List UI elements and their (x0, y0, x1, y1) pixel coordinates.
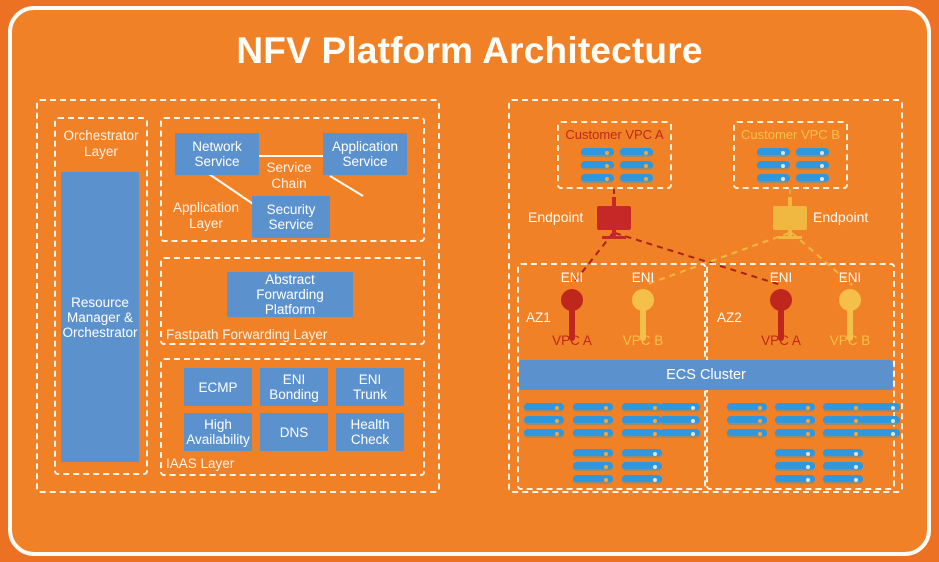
server-icon (622, 449, 662, 458)
endpoint-a[interactable] (597, 206, 631, 230)
server-icon (727, 416, 767, 425)
server-icon (775, 403, 815, 412)
server-icon (823, 475, 863, 484)
az2-server-stack (775, 403, 815, 438)
az2-server-stack (727, 403, 767, 438)
server-icon (573, 462, 613, 471)
server-icon (775, 429, 815, 438)
az1-server-stack (573, 449, 613, 484)
az1-eni-a-vpc-label: VPC A (537, 333, 607, 348)
server-icon (823, 449, 863, 458)
az2-server-stack (775, 449, 815, 484)
az2-server-stack (823, 449, 863, 484)
server-icon (622, 475, 662, 484)
endpoint-stem-up (612, 197, 616, 206)
endpoint-stem-up (788, 197, 792, 206)
endpoint-b[interactable] (773, 206, 807, 230)
server-icon (860, 416, 900, 425)
az1-server-stack (622, 403, 662, 438)
server-icon (860, 403, 900, 412)
server-icon (775, 462, 815, 471)
server-icon (622, 429, 662, 438)
az2-eni-a-label: ENI (746, 270, 816, 285)
az2-eni-b-label: ENI (815, 270, 885, 285)
server-icon (727, 429, 767, 438)
diagram-canvas: NFV Platform Architecture Orchestrator L… (0, 0, 939, 562)
server-icon (573, 416, 613, 425)
server-icon (573, 429, 613, 438)
server-icon (660, 416, 700, 425)
server-icon (622, 462, 662, 471)
server-icon (524, 403, 564, 412)
server-icon (775, 475, 815, 484)
server-icon (727, 403, 767, 412)
server-icon (860, 429, 900, 438)
endpoint-a-label: Endpoint (528, 209, 583, 225)
az2-label: AZ2 (717, 310, 742, 325)
az1-eni-b-vpc-label: VPC B (608, 333, 678, 348)
az1-server-stack (524, 403, 564, 438)
az2-eni-a-vpc-label: VPC A (746, 333, 816, 348)
server-icon (573, 449, 613, 458)
az2-server-stack (823, 403, 863, 438)
az1-server-stack (622, 449, 662, 484)
server-icon (823, 429, 863, 438)
server-icon (573, 475, 613, 484)
server-icon (524, 429, 564, 438)
az2-eni-b-vpc-label: VPC B (815, 333, 885, 348)
endpoint-foot (602, 236, 626, 239)
server-icon (622, 403, 662, 412)
az1-eni-a-label: ENI (537, 270, 607, 285)
server-icon (823, 403, 863, 412)
endpoint-foot (778, 236, 802, 239)
server-icon (660, 429, 700, 438)
server-icon (524, 416, 564, 425)
server-icon (823, 462, 863, 471)
ecs-cluster-bar[interactable]: ECS Cluster (519, 360, 893, 390)
server-icon (573, 403, 613, 412)
server-icon (660, 403, 700, 412)
server-icon (622, 416, 662, 425)
az1-server-stack (660, 403, 700, 438)
server-icon (775, 416, 815, 425)
endpoint-b-label: Endpoint (813, 209, 868, 225)
az2-server-stack (860, 403, 900, 438)
az1-eni-b-label: ENI (608, 270, 678, 285)
server-icon (775, 449, 815, 458)
az1-server-stack (573, 403, 613, 438)
server-icon (823, 416, 863, 425)
az1-label: AZ1 (526, 310, 551, 325)
